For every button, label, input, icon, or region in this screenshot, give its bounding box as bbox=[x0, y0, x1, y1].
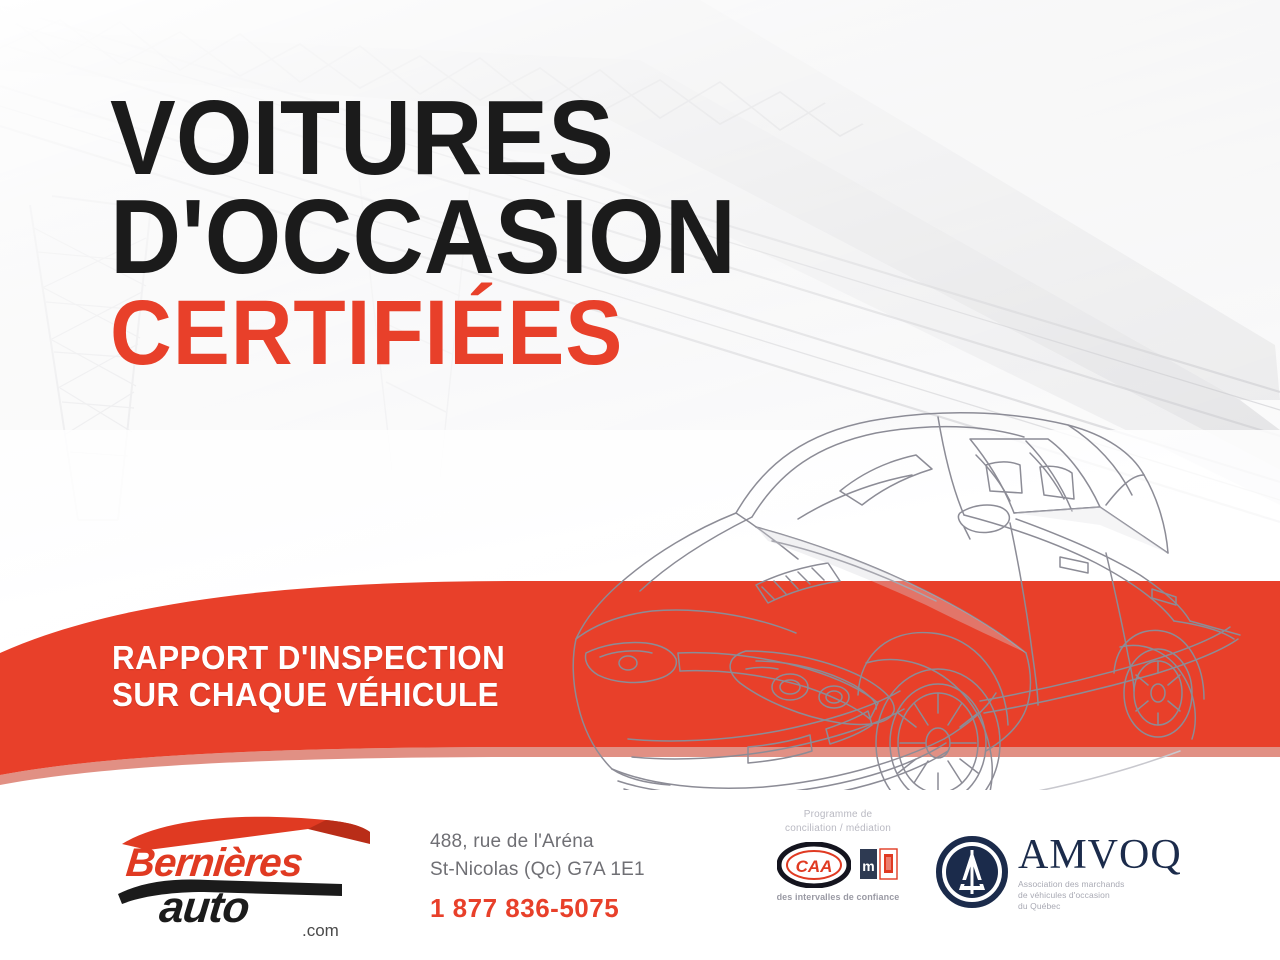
dealer-logo[interactable]: Bernières auto .com bbox=[112, 810, 380, 938]
banner-line-1: RAPPORT D'INSPECTION bbox=[112, 640, 505, 677]
caa-caption-line-1: Programme de bbox=[748, 808, 928, 822]
svg-text:auto: auto bbox=[157, 883, 251, 932]
svg-text:Bernières: Bernières bbox=[124, 841, 304, 885]
phone-number[interactable]: 1 877 836-5075 bbox=[430, 890, 645, 928]
headline-line-1: VOITURES bbox=[110, 92, 736, 185]
caa-tagline: des intervalles de confiance bbox=[748, 892, 928, 902]
amvoq-subtitle-line-3: du Québec bbox=[1018, 901, 1182, 912]
vehicle-line-art bbox=[540, 395, 1280, 795]
partner-badge-icon: m bbox=[859, 845, 899, 885]
address-street: 488, rue de l'Aréna bbox=[430, 828, 645, 856]
footer-bar: Bernières auto .com 488, rue de l'Aréna … bbox=[0, 790, 1280, 960]
address-city: St-Nicolas (Qc) G7A 1E1 bbox=[430, 856, 645, 884]
amvoq-subtitle: Association des marchands de véhicules d… bbox=[1018, 879, 1182, 912]
advertisement-poster: VOITURES D'OCCASION CERTIFIÉES RAPPORT D… bbox=[0, 0, 1280, 960]
svg-text:.com: .com bbox=[302, 921, 339, 938]
caa-logo-icon: CAA bbox=[777, 842, 851, 888]
headline-line-3-certified: CERTIFIÉES bbox=[110, 293, 736, 374]
svg-text:m: m bbox=[862, 858, 874, 874]
caa-partner-block: Programme de conciliation / médiation CA… bbox=[748, 808, 928, 902]
contact-block: 488, rue de l'Aréna St-Nicolas (Qc) G7A … bbox=[430, 828, 645, 928]
headline-block: VOITURES D'OCCASION CERTIFIÉES bbox=[110, 92, 783, 373]
amvoq-subtitle-line-2: de véhicules d'occasion bbox=[1018, 890, 1182, 901]
amvoq-partner-block: AMVOQ Association des marchands de véhic… bbox=[936, 832, 1182, 912]
caa-program-caption: Programme de conciliation / médiation bbox=[748, 808, 928, 835]
amvoq-text-block: AMVOQ Association des marchands de véhic… bbox=[1018, 832, 1182, 912]
amvoq-logo-icon bbox=[936, 836, 1008, 908]
caa-caption-line-2: conciliation / médiation bbox=[748, 822, 928, 836]
banner-text-block: RAPPORT D'INSPECTION SUR CHAQUE VÉHICULE bbox=[112, 640, 505, 714]
amvoq-name: AMVOQ bbox=[1018, 834, 1182, 876]
banner-line-2: SUR CHAQUE VÉHICULE bbox=[112, 677, 505, 714]
svg-text:CAA: CAA bbox=[796, 857, 833, 876]
amvoq-subtitle-line-1: Association des marchands bbox=[1018, 879, 1182, 890]
headline-line-2: D'OCCASION bbox=[110, 191, 736, 284]
caa-logo-row: CAA m bbox=[748, 840, 928, 890]
